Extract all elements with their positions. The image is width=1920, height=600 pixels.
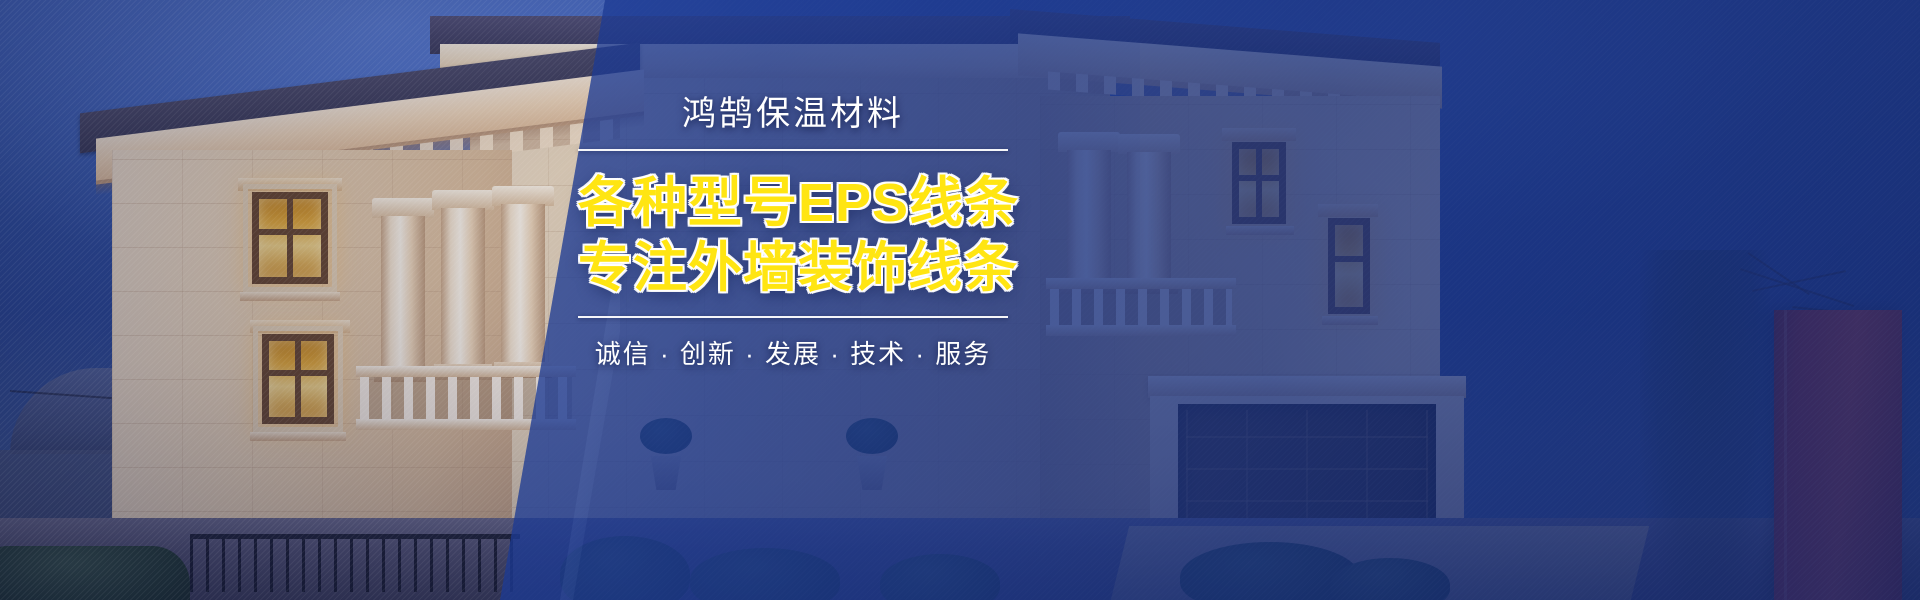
window-mullion-horizontal: [1239, 175, 1279, 181]
window-frame: [243, 184, 337, 292]
window-mullion-horizontal: [1335, 256, 1363, 262]
column-capital: [432, 190, 494, 210]
hedge: [0, 546, 190, 600]
lit-window: [1328, 218, 1370, 314]
planter-bush: [846, 418, 898, 454]
window-lintel: [1318, 204, 1378, 217]
balustrade-posts: [360, 377, 572, 419]
red-wall-panel: [1774, 310, 1902, 600]
headline-line-1: 各种型号EPS线条: [578, 173, 1008, 233]
stone-column: [1127, 152, 1171, 278]
balustrade-rail: [356, 366, 576, 377]
headline-line-2: 专注外墙装饰线条: [578, 238, 1008, 298]
column-capital: [492, 186, 554, 206]
stone-column: [501, 204, 545, 362]
divider-top: [578, 149, 1008, 151]
window-mullion-vertical: [1256, 149, 1262, 217]
banner-text-block: 鸿鹄保温材料 各种型号EPS线条 专注外墙装饰线条 诚信 · 创新 · 发展 ·…: [578, 96, 1008, 371]
balustrade-posts: [1050, 289, 1232, 325]
banner-root: 鸿鹄保温材料 各种型号EPS线条 专注外墙装饰线条 诚信 · 创新 · 发展 ·…: [0, 0, 1920, 600]
column-capital: [1118, 134, 1180, 154]
window-sill: [240, 292, 340, 301]
balustrade-base-rail: [1046, 325, 1236, 336]
foreground-railing: [190, 534, 520, 592]
railing-bars: [190, 539, 520, 592]
bare-tree: [1640, 250, 1770, 600]
balustrade-rail: [1046, 278, 1236, 289]
brand-name: 鸿鹄保温材料: [578, 96, 1008, 133]
window-frame: [253, 326, 343, 432]
stone-column: [381, 216, 425, 366]
stone-column: [1067, 150, 1111, 278]
window-sill: [250, 432, 346, 441]
lit-window: [1232, 142, 1286, 224]
window-sill: [1322, 316, 1378, 325]
window-lintel: [1222, 128, 1296, 141]
stone-column: [441, 208, 485, 364]
garage-lintel: [1148, 376, 1466, 398]
divider-bottom: [578, 316, 1008, 318]
column-capital: [1058, 132, 1120, 152]
window-sill: [1226, 226, 1294, 235]
tagline: 诚信 · 创新 · 发展 · 技术 · 服务: [578, 334, 1008, 371]
balustrade-base-rail: [356, 419, 576, 430]
column-capital: [372, 198, 434, 218]
planter-bush: [640, 418, 692, 454]
